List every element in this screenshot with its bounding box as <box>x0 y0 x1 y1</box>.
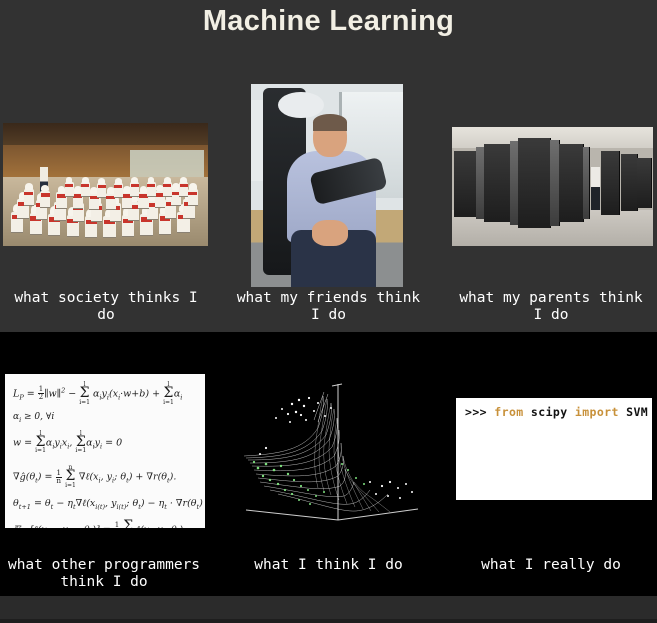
meme-image: Machine Learning <box>0 0 657 623</box>
svm-equations-image: LP = 12∥w∥2 − lΣi=1 αiyi(xi·w+b) + lΣi=1… <box>5 374 205 528</box>
python-console-line: >>> from scipy import SVM <box>465 405 652 419</box>
surface-plot-graphic <box>230 370 426 536</box>
equation-expectation: 𝔼i(t)[ℓ(xi(t), yi(t); θt)] = 1n Σi ℓ(xi,… <box>13 521 199 528</box>
man-with-robotic-arm-photo <box>251 84 403 287</box>
keyword-import: import <box>575 405 626 419</box>
caption-parents: what my parents think I do <box>445 290 657 324</box>
equation-alpha-constraint: αi ≥ 0, ∀i <box>13 413 199 424</box>
3d-svm-decision-surface-plot <box>230 370 426 536</box>
equation-sgd-update: θt+1 = θt − ηt∇ℓ(xi(t), yi(t); θt) − ηt … <box>13 499 199 511</box>
caption-i-really-do: what I really do <box>445 557 657 574</box>
caption-society: what society thinks I do <box>0 290 212 324</box>
caption-friends: what my friends think I do <box>222 290 435 324</box>
equation-w-expansion: w = lΣi=1αiyixi, lΣi=1αiyi = 0 <box>13 431 199 455</box>
python-console-screenshot: >>> from scipy import SVM <box>456 398 652 500</box>
module-name-scipy: scipy <box>531 405 575 419</box>
caption-other-programmers: what other programmers think I do <box>0 557 208 591</box>
equation-gradient-estimate: ∇ĝ(θt) = 1n nΣi=1 ∇ℓ(xi, yi; θt) + ∇r(θt… <box>13 465 199 489</box>
imported-name-svm: SVM <box>626 405 648 419</box>
auditorium-full-of-humanoid-robots-photo <box>3 123 208 246</box>
caption-i-think: what I think I do <box>222 557 435 574</box>
python-prompt: >>> <box>465 405 494 419</box>
page-title: Machine Learning <box>0 2 657 40</box>
supercomputer-server-racks-photo <box>452 127 653 246</box>
footer-rule <box>0 619 657 623</box>
keyword-from: from <box>494 405 531 419</box>
equation-lagrangian-dual: LP = 12∥w∥2 − lΣi=1 αiyi(xi·w+b) + lΣi=1… <box>13 382 199 406</box>
equation-list: LP = 12∥w∥2 − lΣi=1 αiyi(xi·w+b) + lΣi=1… <box>5 374 205 528</box>
